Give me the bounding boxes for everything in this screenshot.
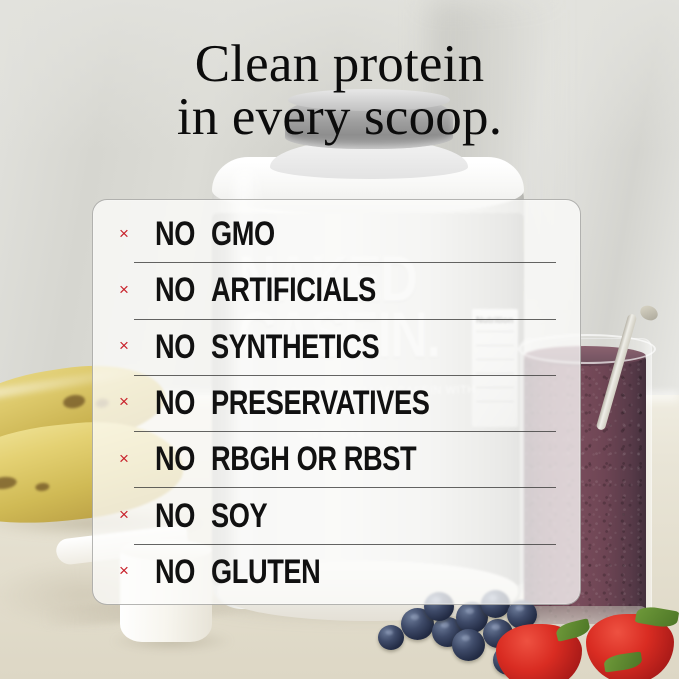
claim-prefix: NO bbox=[155, 499, 200, 533]
claim-prefix: NO bbox=[155, 217, 200, 251]
blueberry bbox=[378, 625, 404, 650]
claim-row: ×NOSOY bbox=[93, 487, 580, 543]
claims-list: ×NOGMO×NOARTIFICIALS×NOSYNTHETICS×NOPRES… bbox=[93, 200, 580, 604]
page-title: Clean protein in every scoop. bbox=[0, 38, 679, 144]
claim-prefix: NO bbox=[155, 555, 200, 589]
x-mark-icon: × bbox=[93, 337, 155, 356]
claim-label: ARTIFICIALS bbox=[211, 273, 376, 307]
claim-prefix: NO bbox=[155, 386, 200, 420]
claim-row: ×NORBGH OR RBST bbox=[93, 431, 580, 487]
x-mark-icon: × bbox=[93, 506, 155, 525]
product-lifestyle-image: NAKEDCASEIN. 100% PREMIUM MICELLAR CASEI… bbox=[0, 0, 679, 679]
claim-prefix: NO bbox=[155, 330, 200, 364]
claim-label: PRESERVATIVES bbox=[211, 386, 430, 420]
claim-row: ×NOSYNTHETICS bbox=[93, 319, 580, 375]
claim-label: GLUTEN bbox=[211, 555, 320, 589]
claim-label: SYNTHETICS bbox=[211, 330, 379, 364]
headline-line-2: in every scoop. bbox=[0, 91, 679, 144]
claim-row: ×NOGLUTEN bbox=[93, 544, 580, 600]
x-mark-icon: × bbox=[93, 562, 155, 581]
claim-label: RBGH OR RBST bbox=[211, 442, 416, 476]
claim-row: ×NOPRESERVATIVES bbox=[93, 375, 580, 431]
x-mark-icon: × bbox=[93, 450, 155, 469]
headline-line-1: Clean protein bbox=[195, 35, 485, 93]
claim-row: ×NOARTIFICIALS bbox=[93, 262, 580, 318]
x-mark-icon: × bbox=[93, 393, 155, 412]
claim-label: SOY bbox=[211, 499, 267, 533]
claim-prefix: NO bbox=[155, 273, 200, 307]
claims-panel: ×NOGMO×NOARTIFICIALS×NOSYNTHETICS×NOPRES… bbox=[92, 199, 581, 605]
x-mark-icon: × bbox=[93, 225, 155, 244]
claim-prefix: NO bbox=[155, 442, 200, 476]
claim-label: GMO bbox=[211, 217, 275, 251]
claim-row: ×NOGMO bbox=[93, 206, 580, 262]
blueberry bbox=[452, 629, 485, 661]
x-mark-icon: × bbox=[93, 281, 155, 300]
